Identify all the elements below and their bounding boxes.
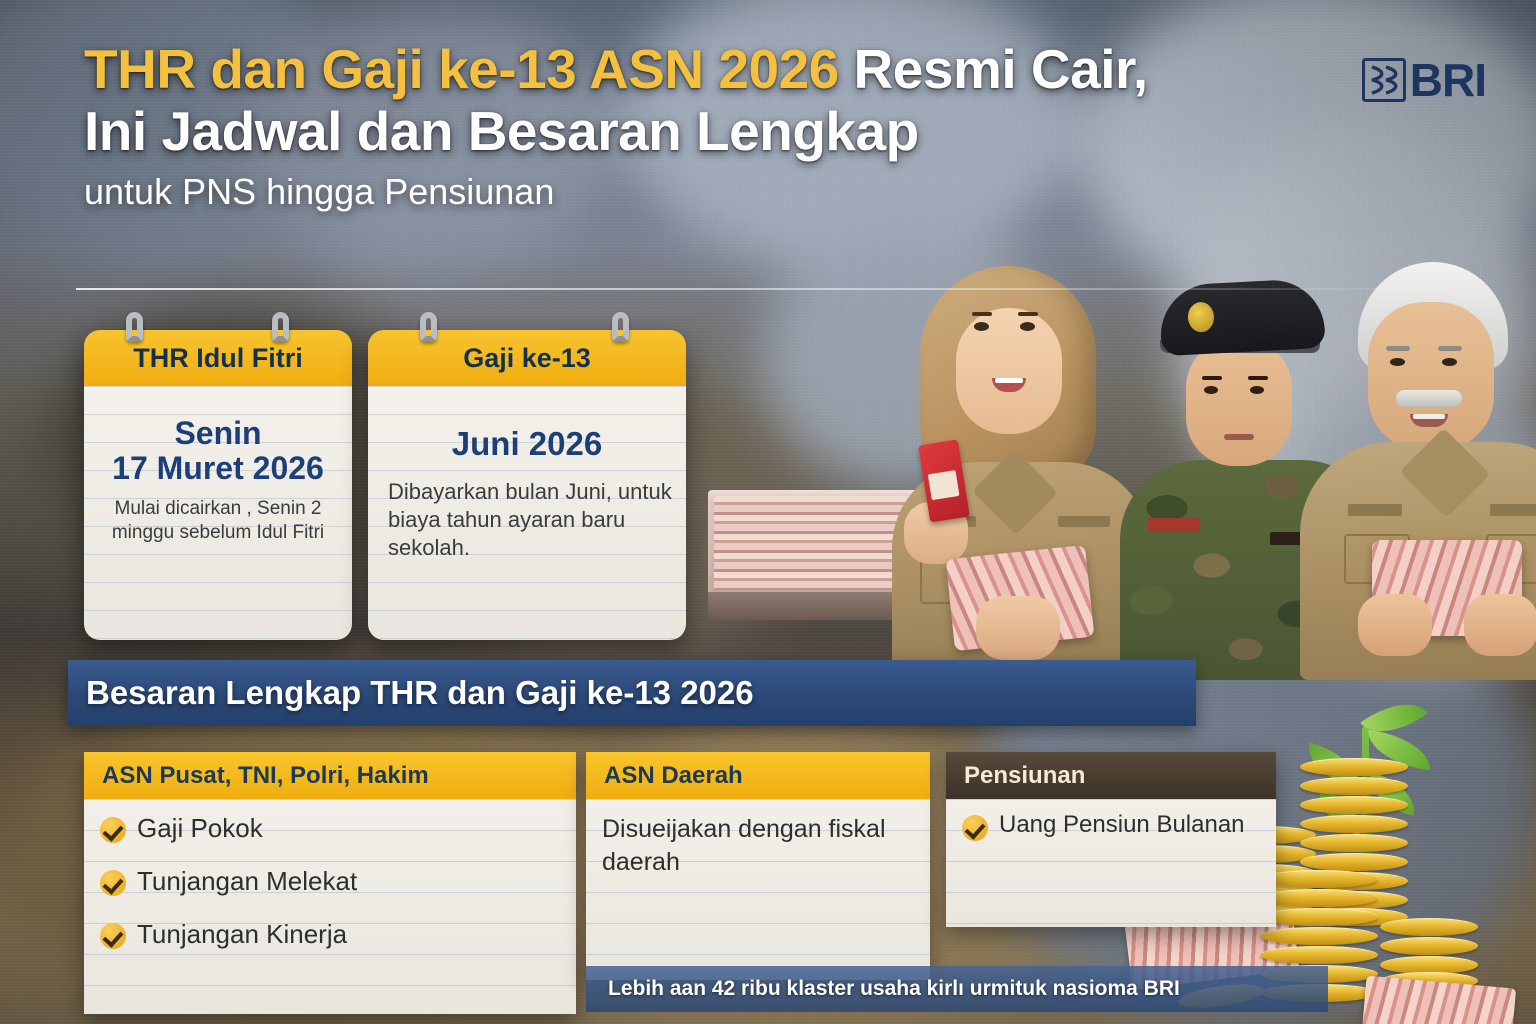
info-card-asn-pusat-body: Gaji Pokok Tunjangan Melekat Tunjangan K… [84,799,576,1014]
list-item-label: Tunjangan Melekat [137,866,357,897]
calendar-card-gaji: Gaji ke-13 Juni 2026 Dibayarkan bulan Ju… [368,330,686,640]
headline-line-2: Ini Jadwal dan Besaran Lengkap [84,100,1314,162]
header-block: THR dan Gaji ke-13 ASN 2026 Resmi Cair, … [84,38,1314,213]
section-banner-title: Besaran Lengkap THR dan Gaji ke-13 2026 [86,674,754,712]
calendar-thr-date: 17 Muret 2026 [94,451,342,486]
section-banner: Besaran Lengkap THR dan Gaji ke-13 2026 [68,660,1196,726]
face [1186,338,1292,466]
calendar-gaji-date: Juni 2026 [378,426,676,462]
info-card-asn-daerah: ASN Daerah Disueijakan dengan fiskal dae… [586,752,930,980]
bri-mark-icon [1362,58,1406,102]
list-item: Tunjangan Kinerja [100,919,562,950]
info-card-pensiunan-title: Pensiunan [946,752,1276,799]
calendar-thr-day: Senin [94,416,342,451]
infographic-canvas: THR dan Gaji ke-13 ASN 2026 Resmi Cair, … [0,0,1536,1024]
info-card-asn-daerah-body: Disueijakan dengan fiskal daerah [586,799,930,980]
face [1368,302,1494,450]
info-card-asn-pusat-title: ASN Pusat, TNI, Polri, Hakim [84,752,576,799]
check-icon [100,817,126,843]
calendar-gaji-body: Juni 2026 Dibayarkan bulan Juni, untuk b… [368,386,686,640]
footer-strip: Lebih aan 42 ribu klaster usaha kirlı ur… [586,966,1328,1012]
check-icon [100,870,126,896]
calendar-gaji-note: Dibayarkan bulan Juni, untuk biaya tahun… [378,478,676,562]
headline-subline: untuk PNS hingga Pensiunan [84,171,1314,213]
calendar-rings [368,312,686,346]
list-item-label: Gaji Pokok [137,813,263,844]
moustache [1396,390,1462,407]
headline-line-1: THR dan Gaji ke-13 ASN 2026 Resmi Cair, [84,38,1314,100]
face [956,308,1062,434]
bri-logo: BRI [1362,58,1486,102]
people-illustration [700,248,1536,678]
info-card-pensiunan: Pensiunan Uang Pensiun Bulanan [946,752,1276,927]
figure-pensiunan-man [1300,262,1536,678]
footer-text: Lebih aan 42 ribu klaster usaha kirlı ur… [608,977,1180,1001]
info-card-pensiunan-body: Uang Pensiun Bulanan [946,799,1276,927]
calendar-thr-body: Senin 17 Muret 2026 Mulai dicairkan , Se… [84,386,352,640]
header-divider [76,288,1476,290]
info-card-asn-daerah-text: Disueijakan dengan fiskal daerah [602,813,916,878]
calendar-rings [84,312,352,346]
calendar-card-thr: THR Idul Fitri Senin 17 Muret 2026 Mulai… [84,330,352,640]
list-item: Gaji Pokok [100,813,562,844]
bri-logo-text: BRI [1410,58,1486,102]
check-icon [962,815,988,841]
list-item: Tunjangan Melekat [100,866,562,897]
list-item-label: Uang Pensiun Bulanan [999,811,1245,840]
list-item: Uang Pensiun Bulanan [962,811,1262,841]
info-card-asn-pusat: ASN Pusat, TNI, Polri, Hakim Gaji Pokok … [84,752,576,1014]
headline-rest: Resmi Cair, [839,38,1148,100]
info-card-asn-daerah-title: ASN Daerah [586,752,930,799]
headline-highlight: THR dan Gaji ke-13 ASN 2026 [84,38,839,100]
check-icon [100,923,126,949]
calendar-thr-note: Mulai dicairkan , Senin 2 minggu sebelum… [94,497,342,546]
banknote [1362,976,1516,1024]
list-item-label: Tunjangan Kinerja [137,919,347,950]
